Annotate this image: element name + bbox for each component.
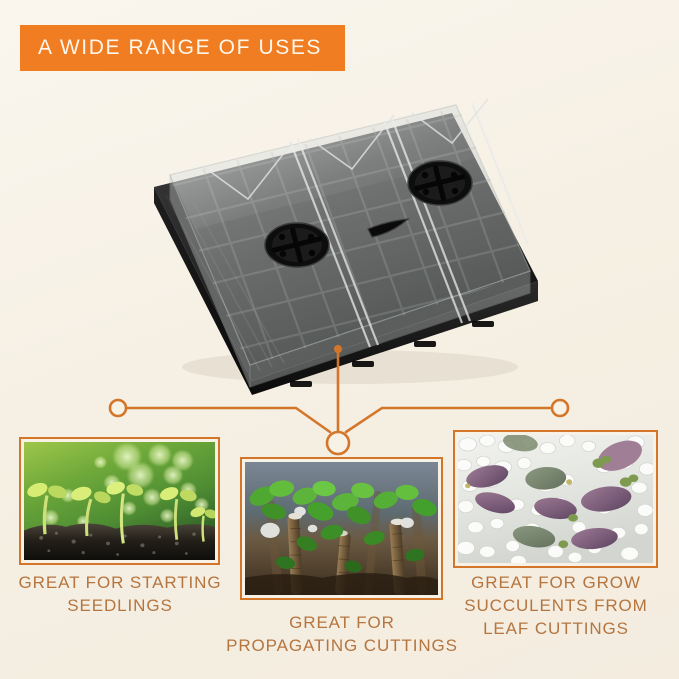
card-image-seedlings (19, 437, 220, 565)
card-image-succulents (453, 430, 658, 568)
caption-cuttings: GREAT FOR PROPAGATING CUTTINGS (222, 612, 462, 658)
caption-seedlings: GREAT FOR STARTING SEEDLINGS (14, 572, 226, 618)
left-node-circle (110, 400, 126, 416)
hero-product-image (140, 95, 540, 395)
caption-succulents: GREAT FOR GROW SUCCULENTS FROM LEAF CUTT… (450, 572, 662, 641)
banner-title: A WIDE RANGE OF USES (38, 36, 322, 60)
infographic-canvas: A WIDE RANGE OF USES (0, 0, 679, 679)
vent-right (408, 161, 472, 205)
vent-left (265, 223, 329, 267)
card-image-cuttings (240, 457, 443, 600)
center-node-circle (327, 432, 349, 454)
right-node-circle (552, 400, 568, 416)
header-banner: A WIDE RANGE OF USES (20, 25, 345, 71)
